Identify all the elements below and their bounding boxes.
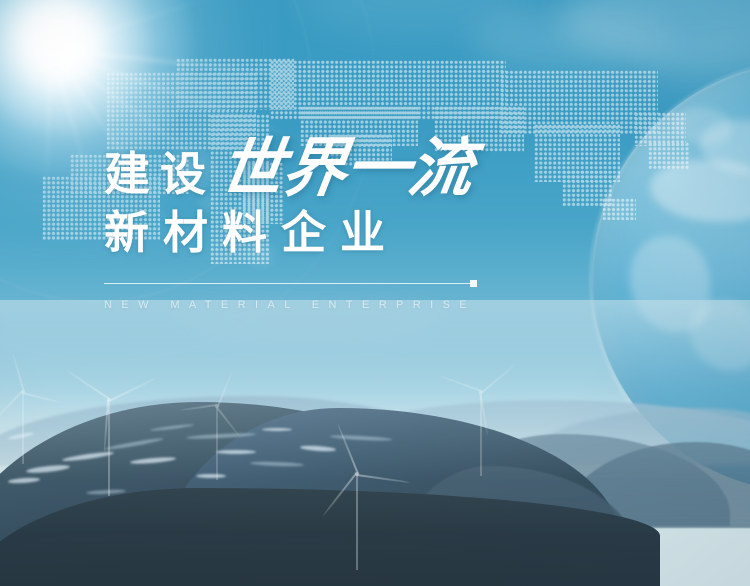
headline-line-1: 建设 世界一流 bbox=[104, 126, 524, 200]
turbine-blade bbox=[217, 371, 233, 407]
wind-turbine bbox=[356, 474, 358, 570]
headline-line-2: 新材料企业 bbox=[104, 206, 524, 260]
turbine-blade bbox=[322, 473, 357, 517]
turbine-mast bbox=[108, 400, 110, 496]
wind-turbine bbox=[108, 400, 110, 496]
wind-turbine bbox=[22, 392, 24, 464]
turbine-hub bbox=[479, 390, 483, 394]
turbine-blade bbox=[357, 474, 411, 484]
divider-rule bbox=[104, 282, 480, 285]
turbine-hub bbox=[215, 404, 219, 408]
turbine-hub bbox=[107, 398, 111, 402]
turbine-blade bbox=[109, 377, 157, 402]
turbine-blade bbox=[440, 375, 482, 392]
turbine-blade bbox=[481, 364, 516, 394]
turbine-hub bbox=[355, 472, 359, 476]
turbine-mast bbox=[356, 474, 358, 570]
turbine-blade bbox=[22, 392, 61, 404]
headline-lead-text: 建设 bbox=[104, 151, 216, 200]
turbine-blade bbox=[12, 353, 25, 392]
headline-emphasis-text: 世界一流 bbox=[216, 136, 477, 200]
subtitle-text: NEW MATERIAL ENTERPRISE bbox=[104, 299, 524, 311]
divider-end-cap bbox=[470, 280, 477, 287]
turbine-blade bbox=[215, 406, 240, 437]
turbine-blade bbox=[337, 423, 359, 474]
divider-line bbox=[104, 283, 472, 284]
wind-turbine-group bbox=[0, 338, 750, 586]
wind-turbine bbox=[480, 392, 482, 476]
turbine-blade bbox=[0, 390, 23, 420]
turbine-mast bbox=[216, 406, 218, 480]
turbine-mast bbox=[22, 392, 24, 464]
turbine-hub bbox=[21, 390, 25, 394]
turbine-blade bbox=[66, 369, 110, 400]
landscape-layer bbox=[0, 338, 750, 586]
headline-block: 建设 世界一流 新材料企业 NEW MATERIAL ENTERPRISE bbox=[104, 126, 524, 311]
wind-turbine bbox=[216, 406, 218, 480]
hero-banner: 建设 世界一流 新材料企业 NEW MATERIAL ENTERPRISE bbox=[0, 0, 750, 586]
turbine-blade bbox=[179, 404, 217, 411]
